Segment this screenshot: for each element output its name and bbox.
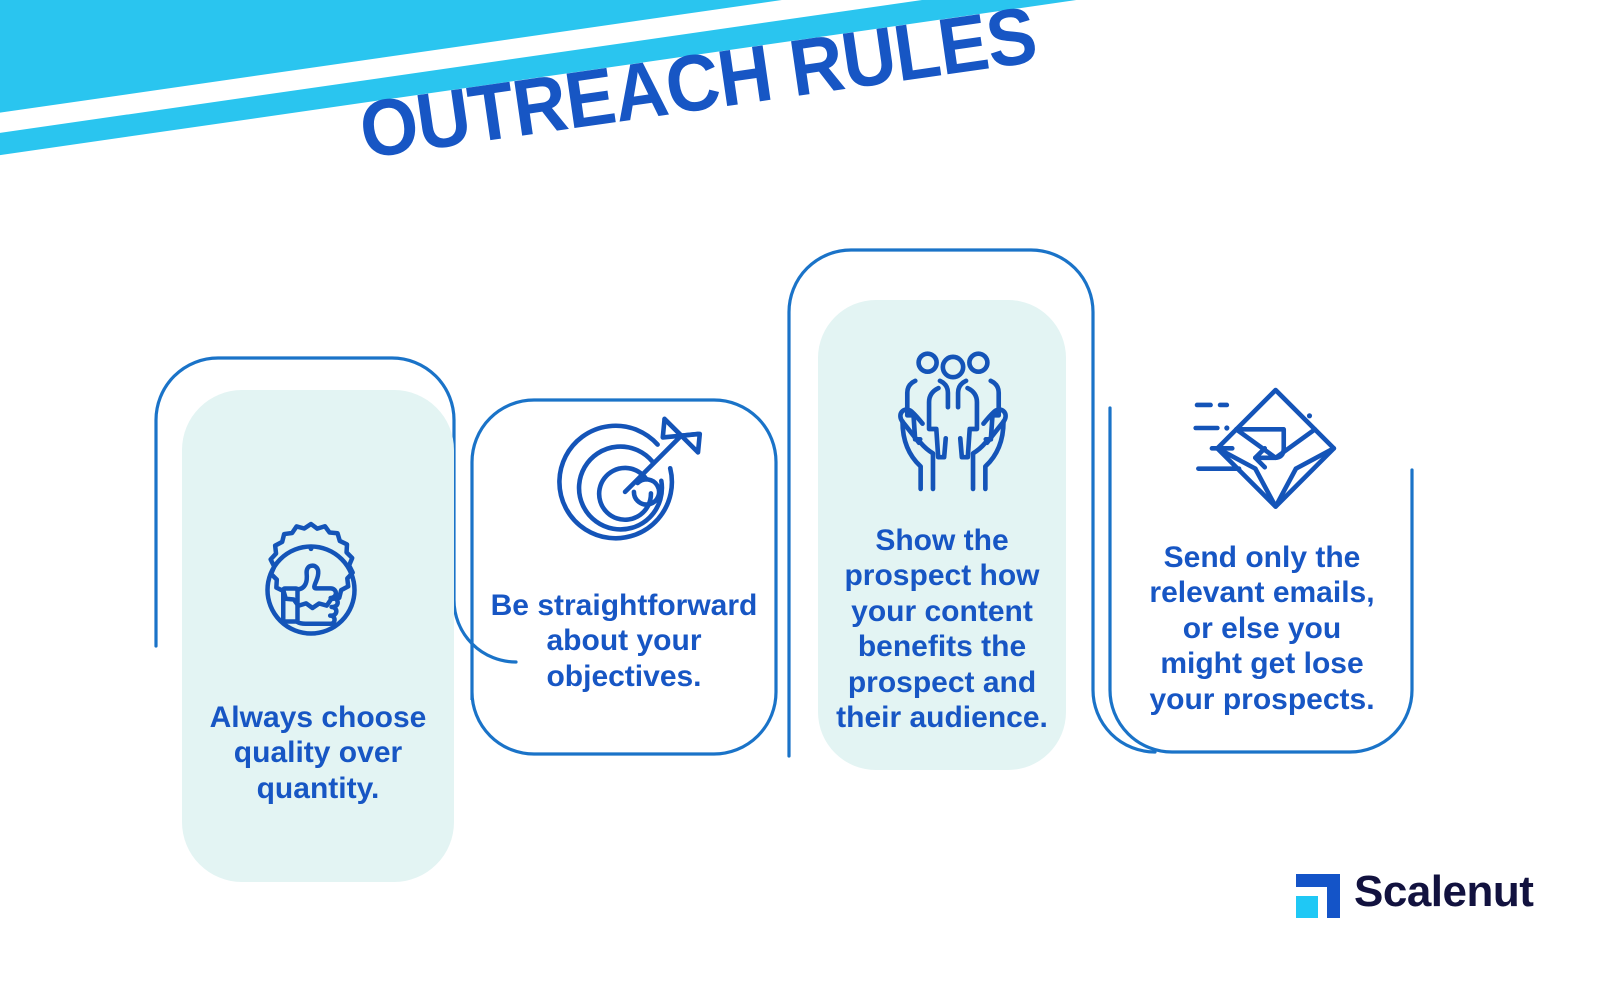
card-3-outline: [789, 250, 1155, 756]
card-2-outline: [472, 400, 776, 754]
infographic-canvas: OUTREACH RULES Always choose quality ove…: [0, 0, 1600, 983]
scalenut-logo[interactable]: Scalenut: [1288, 866, 1533, 918]
card-outlines: [0, 0, 1600, 983]
card-1-outline: [156, 358, 516, 662]
card-4-outline: [1110, 408, 1412, 752]
scalenut-wordmark: Scalenut: [1354, 870, 1533, 914]
scalenut-logo-mark: [1288, 866, 1340, 918]
